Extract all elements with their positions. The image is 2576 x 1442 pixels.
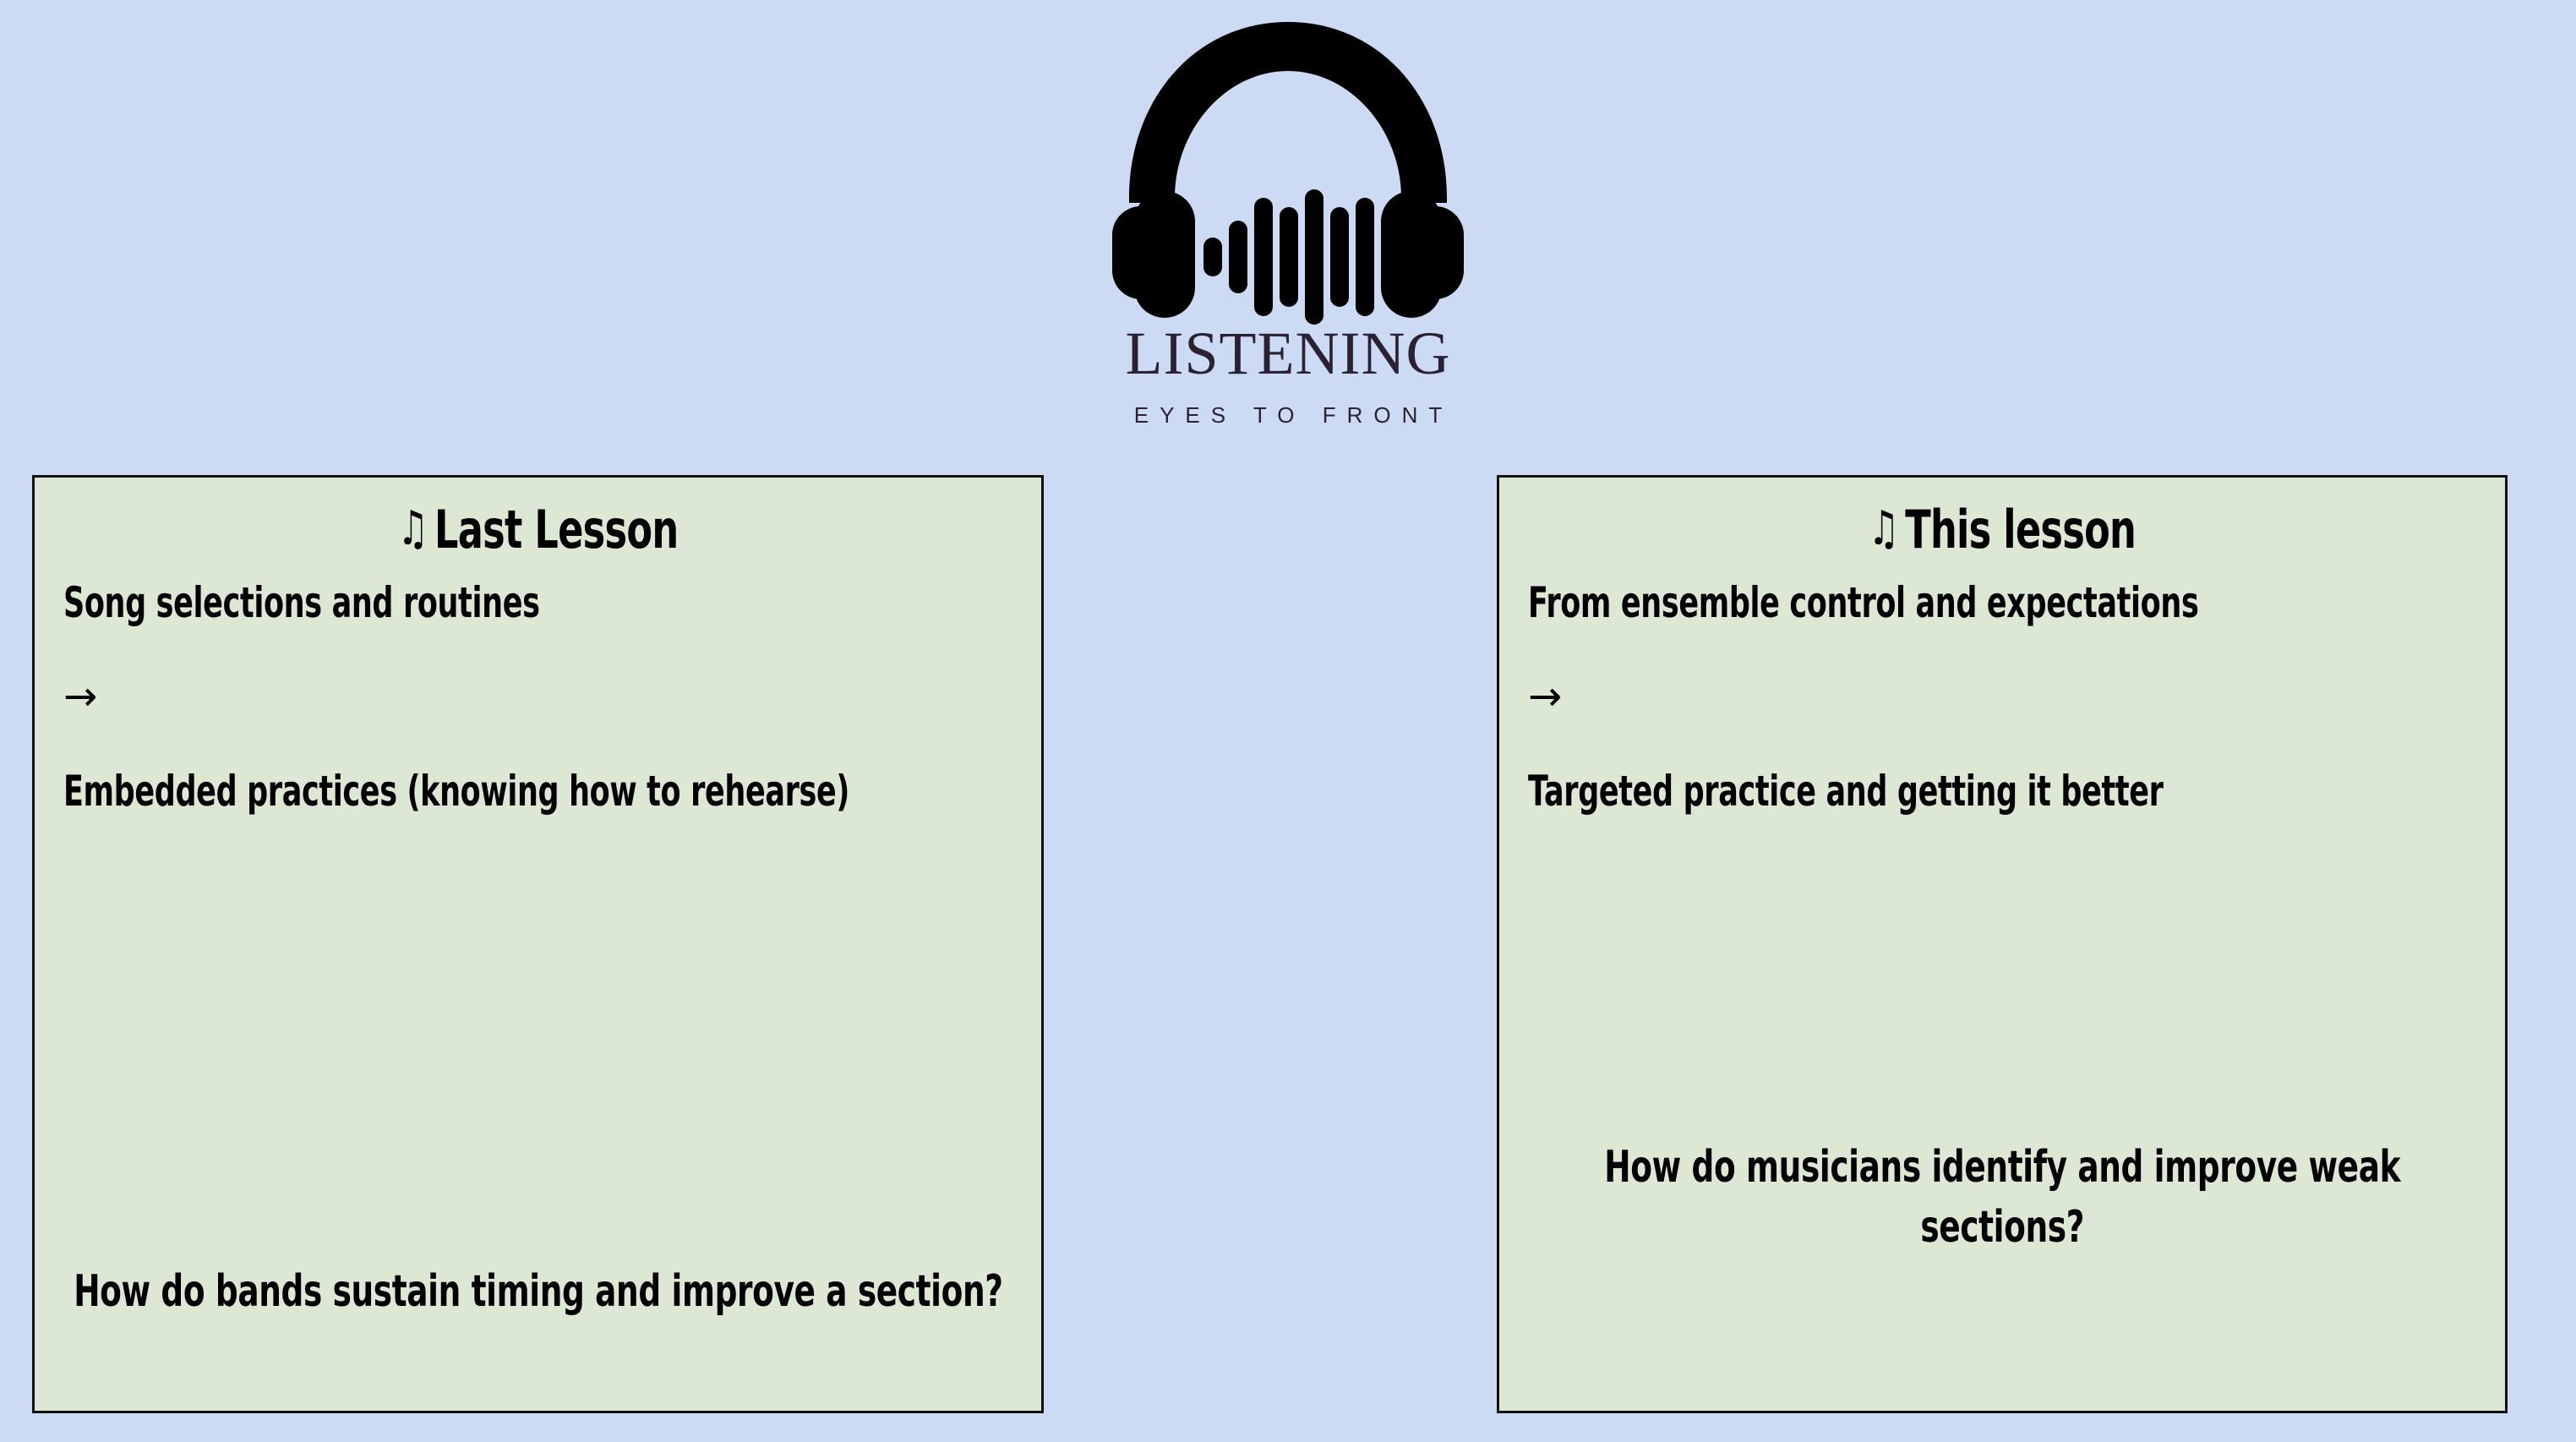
card-last-lesson-heading: ♫Last Lesson — [196, 500, 880, 560]
logo-block: LISTENING EYES TO FRONT — [0, 0, 2576, 456]
card-last-lesson-heading-text: Last Lesson — [434, 499, 678, 560]
spacer — [63, 719, 1012, 763]
card-last-lesson-line-2: Embedded practices (knowing how to rehea… — [63, 763, 1007, 819]
card-this-lesson-heading: ♫This lesson — [1661, 500, 2344, 560]
card-this-lesson-arrow-icon: → — [1528, 675, 2476, 719]
card-last-lesson: ♫Last Lesson Song selections and routine… — [32, 475, 1044, 1413]
card-last-lesson-line-1: Song selections and routines — [63, 575, 1007, 631]
card-this-lesson-line-2: Targeted practice and getting it better — [1528, 763, 2470, 819]
card-this-lesson-line-1: From ensemble control and expectations — [1528, 575, 2470, 631]
music-note-icon: ♫ — [398, 501, 428, 556]
spacer — [63, 631, 1012, 675]
card-last-lesson-arrow-icon: → — [63, 675, 1012, 719]
music-note-icon: ♫ — [1869, 501, 1899, 556]
card-last-lesson-question-text: How do bands sustain timing and improve … — [63, 1262, 1012, 1323]
card-this-lesson-question: How do musicians identify and improve we… — [1528, 1138, 2476, 1259]
card-this-lesson: ♫This lesson From ensemble control and e… — [1497, 475, 2508, 1413]
logo-wordmark: LISTENING — [1126, 323, 1451, 384]
card-this-lesson-body: From ensemble control and expectations →… — [1528, 575, 2476, 819]
headphones-waveform-icon — [1094, 7, 1482, 328]
spacer — [1528, 719, 2476, 763]
spacer — [1528, 631, 2476, 675]
card-this-lesson-question-text: How do musicians identify and improve we… — [1528, 1138, 2476, 1259]
card-last-lesson-body: Song selections and routines → Embedded … — [63, 575, 1012, 819]
card-last-lesson-question: How do bands sustain timing and improve … — [63, 1262, 1012, 1323]
card-this-lesson-heading-text: This lesson — [1905, 499, 2136, 560]
logo-tagline: EYES TO FRONT — [1134, 404, 1454, 426]
